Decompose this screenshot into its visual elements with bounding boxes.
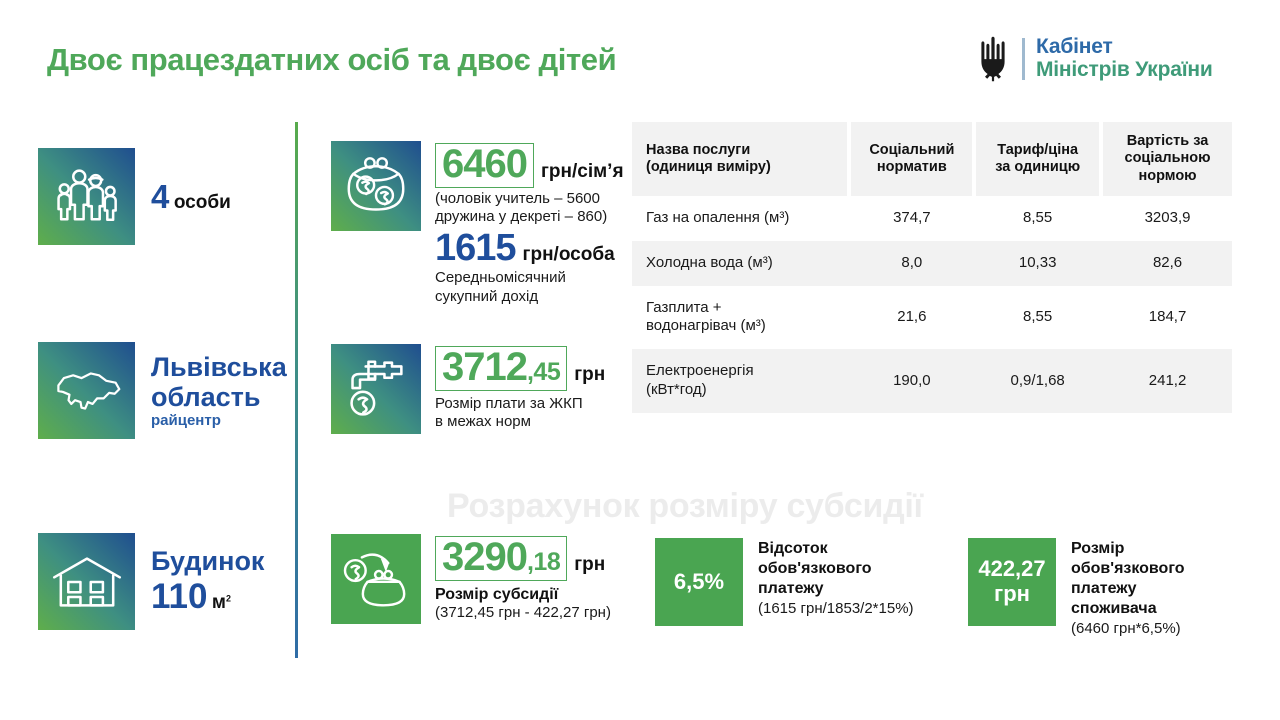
house-area-unit: м xyxy=(212,592,226,613)
utility-amount-box: 3712,45 xyxy=(435,346,567,391)
cell-tariff: 8,55 xyxy=(976,286,1099,350)
table-row: Електроенергія (кВт*год) 190,0 0,9/1,68 … xyxy=(632,349,1232,413)
cell-norm: 21,6 xyxy=(851,286,972,350)
badge-percent-formula: (1615 грн/1853/2*15%) xyxy=(758,600,914,617)
region-title-line2: область xyxy=(151,382,287,412)
subsidy-amount-dec: ,18 xyxy=(527,548,560,577)
cell-service-name: Електроенергія (кВт*год) xyxy=(632,349,847,413)
ukraine-map-icon xyxy=(38,342,135,439)
logo-divider xyxy=(1022,38,1025,80)
cell-cost: 241,2 xyxy=(1103,349,1232,413)
slide-root: Двоє працездатних осіб та двоє дітей Каб… xyxy=(0,0,1280,720)
watermark-text: Розрахунок розміру субсидії xyxy=(447,487,923,526)
badge-payment-title-3: платежу xyxy=(1071,579,1185,599)
badge-mandatory-payment: 422,27 грн Розмір обов'язкового платежу … xyxy=(968,538,1185,637)
badge-percent-value: 6,5% xyxy=(674,570,724,595)
income-block: 6460 грн/сім’я (чоловік учитель – 5600 д… xyxy=(331,141,624,307)
cell-cost: 3203,9 xyxy=(1103,196,1232,241)
cell-norm: 190,0 xyxy=(851,349,972,413)
profile-block-persons: 4 особи xyxy=(38,148,231,245)
cell-service-name: Газ на опалення (м³) xyxy=(632,196,847,241)
logo-line-1: Кабінет xyxy=(1036,36,1213,59)
badge-percent-title-2: обов'язкового xyxy=(758,559,914,579)
cell-tariff: 8,55 xyxy=(976,196,1099,241)
region-subtitle: райцентр xyxy=(151,412,287,429)
utility-block: 3712,45 грн Розмір плати за ЖКП в межах … xyxy=(331,344,605,434)
table-row: Газплита + водонагрівач (м³) 21,6 8,55 1… xyxy=(632,286,1232,350)
subsidy-amount-int: 3290 xyxy=(442,537,527,579)
wallet-coins-icon xyxy=(331,141,421,231)
table-header-cost: Вартість за соціальною нормою xyxy=(1103,122,1232,196)
cell-norm: 374,7 xyxy=(851,196,972,241)
faucet-hryvnia-icon xyxy=(331,344,421,434)
utility-amount-unit: грн xyxy=(574,364,605,386)
persons-count: 4 xyxy=(151,178,169,215)
table-row: Холодна вода (м³) 8,0 10,33 82,6 xyxy=(632,241,1232,286)
page-title: Двоє працездатних осіб та двоє дітей xyxy=(47,42,616,78)
cell-cost: 184,7 xyxy=(1103,286,1232,350)
cell-tariff: 10,33 xyxy=(976,241,1099,286)
badge-payment-title-2: обов'язкового xyxy=(1071,559,1185,579)
house-area-unit-exp: 2 xyxy=(226,593,231,603)
house-title: Будинок xyxy=(151,546,264,576)
badge-percent-title-1: Відсоток xyxy=(758,539,914,559)
house-area-value: 110 xyxy=(151,577,207,616)
table-header-norm: Соціальний норматив xyxy=(851,122,972,196)
table-header-service: Назва послуги (одиниця виміру) xyxy=(632,122,847,196)
tariffs-table: Назва послуги (одиниця виміру) Соціальни… xyxy=(632,122,1232,413)
cell-tariff: 0,9/1,68 xyxy=(976,349,1099,413)
cell-norm: 8,0 xyxy=(851,241,972,286)
table-row: Газ на опалення (м³) 374,7 8,55 3203,9 xyxy=(632,196,1232,241)
coin-into-purse-icon xyxy=(331,534,421,624)
utility-amount-dec: ,45 xyxy=(527,358,560,387)
persons-unit: особи xyxy=(174,192,231,213)
badge-percent-chip: 6,5% xyxy=(655,538,743,626)
badge-payment-chip: 422,27 грн xyxy=(968,538,1056,626)
badge-payment-value: 422,27 xyxy=(978,557,1045,582)
income-per-person-unit: грн/особа xyxy=(523,244,615,266)
cell-service-name: Холодна вода (м³) xyxy=(632,241,847,286)
badge-mandatory-percent: 6,5% Відсоток обов'язкового платежу (161… xyxy=(655,538,914,626)
income-amount: 6460 xyxy=(442,144,527,186)
badge-payment-title-4: споживача xyxy=(1071,599,1185,619)
income-amount-box: 6460 xyxy=(435,143,534,188)
badge-payment-unit: грн xyxy=(994,582,1030,607)
utility-caption-line1: Розмір плати за ЖКП xyxy=(435,395,605,414)
subsidy-amount-unit: грн xyxy=(574,554,605,576)
badge-payment-formula: (6460 грн*6,5%) xyxy=(1071,620,1185,637)
cell-cost: 82,6 xyxy=(1103,241,1232,286)
income-breakdown-line2: дружина у декреті – 860) xyxy=(435,208,624,227)
income-caption-line2: сукупний дохід xyxy=(435,288,624,307)
badge-percent-title-3: платежу xyxy=(758,579,914,599)
cell-service-name: Газплита + водонагрівач (м³) xyxy=(632,286,847,350)
subsidy-caption: Розмір субсидії xyxy=(435,585,611,605)
subsidy-amount-box: 3290,18 xyxy=(435,536,567,581)
region-title-line1: Львівська xyxy=(151,352,287,382)
table-body: Газ на опалення (м³) 374,7 8,55 3203,9 Х… xyxy=(632,196,1232,413)
profile-block-house: Будинок 110 м2 xyxy=(38,533,264,630)
family-icon xyxy=(38,148,135,245)
income-per-person: 1615 xyxy=(435,228,516,269)
profile-block-region: Львівська область райцентр xyxy=(38,342,287,439)
table-header-row: Назва послуги (одиниця виміру) Соціальни… xyxy=(632,122,1232,196)
subsidy-formula: (3712,45 грн - 422,27 грн) xyxy=(435,604,611,623)
logo-line-2: Міністрів України xyxy=(1036,59,1213,82)
cabinet-of-ministers-logo: Кабінет Міністрів України xyxy=(975,36,1213,82)
column-divider xyxy=(295,122,298,658)
income-amount-unit: грн/сім’я xyxy=(541,161,624,183)
utility-amount-int: 3712 xyxy=(442,347,527,389)
subsidy-block: 3290,18 грн Розмір субсидії (3712,45 грн… xyxy=(331,534,611,624)
tryzub-icon xyxy=(975,36,1011,82)
utility-caption-line2: в межах норм xyxy=(435,413,605,432)
badge-payment-title-1: Розмір xyxy=(1071,539,1185,559)
income-breakdown-line1: (чоловік учитель – 5600 xyxy=(435,190,624,209)
house-icon xyxy=(38,533,135,630)
income-caption-line1: Середньомісячний xyxy=(435,269,624,288)
table-header-tariff: Тариф/ціна за одиницю xyxy=(976,122,1099,196)
